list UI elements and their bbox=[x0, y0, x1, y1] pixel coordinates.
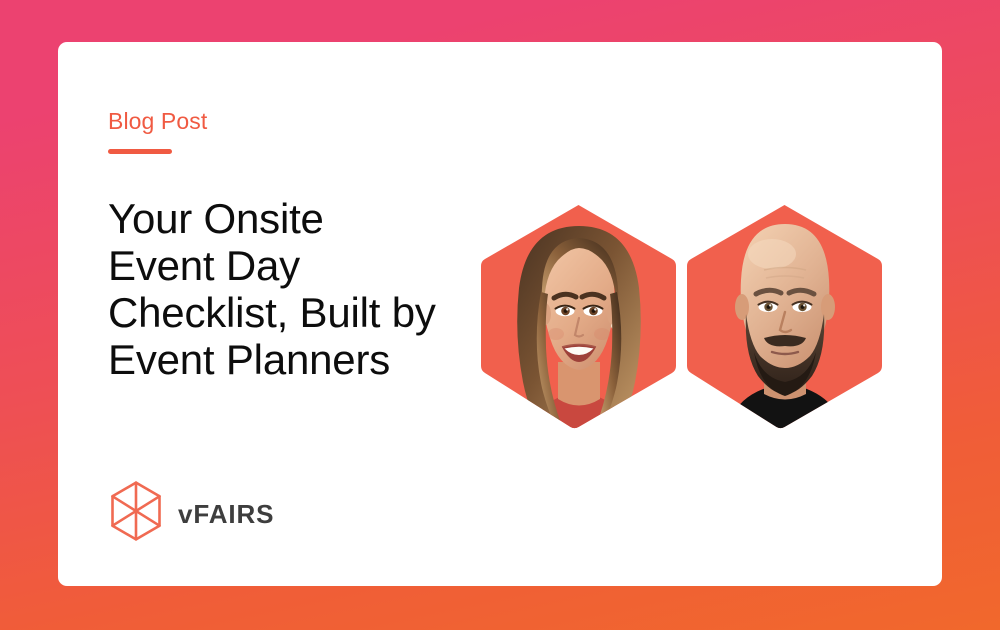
page-root: { "theme": { "accent": "#f05a42", "hex_f… bbox=[0, 0, 1000, 630]
eyebrow-underline-rule bbox=[108, 149, 172, 154]
speaker-portraits-group bbox=[478, 202, 898, 447]
vfairs-logo[interactable]: vFAIRS bbox=[108, 480, 274, 547]
card-text-column: Blog Post Your Onsite Event Day Checklis… bbox=[108, 108, 508, 383]
vfairs-hexagon-logo-icon bbox=[108, 480, 164, 547]
eyebrow-label: Blog Post bbox=[108, 108, 508, 134]
blog-post-card: Blog Post Your Onsite Event Day Checklis… bbox=[58, 42, 942, 586]
vfairs-wordmark: vFAIRS bbox=[178, 501, 274, 527]
speaker-portrait-hexagon-icon-2 bbox=[684, 202, 885, 430]
speaker-portrait-hexagon-icon-1 bbox=[478, 202, 679, 430]
page-title: Your Onsite Event Day Checklist, Built b… bbox=[108, 195, 508, 383]
